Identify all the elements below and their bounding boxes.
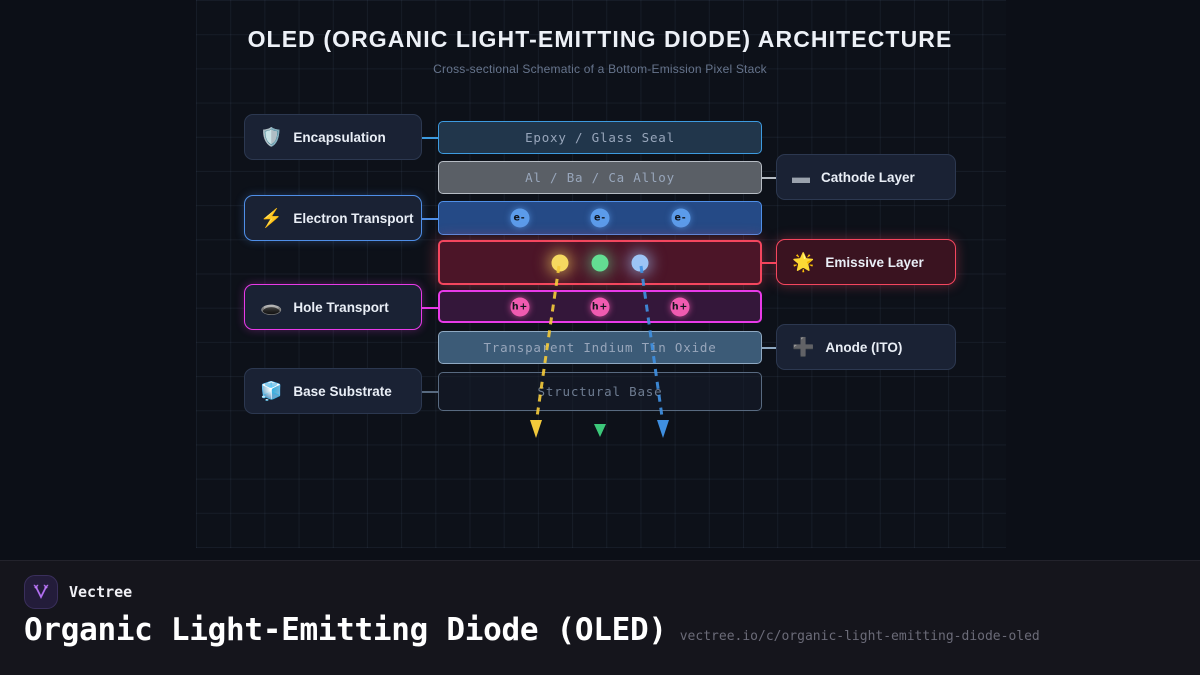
vectree-logo-icon (24, 575, 58, 609)
hole-badge: h+ (511, 297, 530, 316)
sidebar-item-label: Emissive Layer (825, 255, 923, 270)
layer-encapsulation[interactable]: Epoxy / Glass Seal (438, 121, 762, 154)
sidebar-item-base-substrate[interactable]: 🧊 Base Substrate (244, 368, 422, 414)
layer-cathode-text: Al / Ba / Ca Alloy (525, 170, 675, 185)
electron-badge: e- (591, 209, 610, 228)
sidebar-item-label: Hole Transport (293, 300, 388, 315)
electron-badge: e- (671, 209, 690, 228)
layer-hole-transport[interactable]: h+ h+ h+ (438, 290, 762, 323)
lightning-icon: ⚡ (260, 209, 282, 227)
hole-carriers: h+ h+ h+ (440, 292, 760, 321)
emissive-dots (440, 242, 760, 283)
layer-substrate-text: Structural Base (538, 384, 663, 399)
sidebar-item-label: Cathode Layer (821, 170, 915, 185)
layer-encapsulation-text: Epoxy / Glass Seal (525, 130, 675, 145)
layer-ito[interactable]: Transparent Indium Tin Oxide (438, 331, 762, 364)
connector-encapsulation (422, 137, 438, 139)
brand-name: Vectree (69, 583, 132, 601)
electron-carriers: e- e- e- (439, 202, 761, 234)
sidebar-item-emissive[interactable]: 🌟 Emissive Layer (776, 239, 956, 285)
connector-base-substrate (422, 391, 438, 393)
connector-cathode (762, 177, 776, 179)
blue-subpixel-emitter (632, 254, 649, 271)
sidebar-item-label: Base Substrate (293, 384, 391, 399)
layer-ito-text: Transparent Indium Tin Oxide (483, 340, 716, 355)
layer-emissive[interactable] (438, 240, 762, 285)
layer-electron-transport[interactable]: e- e- e- (438, 201, 762, 235)
electron-badge: e- (510, 209, 529, 228)
connector-emissive (762, 262, 776, 264)
layer-substrate[interactable]: Structural Base (438, 372, 762, 411)
sidebar-item-anode[interactable]: ➕ Anode (ITO) (776, 324, 956, 370)
red-subpixel-emitter (552, 254, 569, 271)
page-title: OLED (ORGANIC LIGHT-EMITTING DIODE) ARCH… (0, 26, 1200, 53)
sidebar-item-label: Electron Transport (293, 211, 413, 226)
sidebar-item-label: Encapsulation (293, 130, 385, 145)
connector-electron-transport (422, 218, 438, 220)
sidebar-item-electron-transport[interactable]: ⚡ Electron Transport (244, 195, 422, 241)
hole-badge: h+ (591, 297, 610, 316)
sidebar-item-encapsulation[interactable]: 🛡️ Encapsulation (244, 114, 422, 160)
sidebar-item-hole-transport[interactable]: 🕳️ Hole Transport (244, 284, 422, 330)
plus-icon: ➕ (792, 338, 814, 356)
bar-icon: ▬ (792, 168, 810, 186)
brand[interactable]: Vectree (24, 575, 132, 609)
connector-anode (762, 347, 776, 349)
green-subpixel-emitter (592, 254, 609, 271)
shield-icon: 🛡️ (260, 128, 282, 146)
footer-content: Organic Light-Emitting Diode (OLED) vect… (24, 612, 1184, 648)
diagram-stage: OLED (ORGANIC LIGHT-EMITTING DIODE) ARCH… (0, 0, 1200, 560)
page-subtitle: Cross-sectional Schematic of a Bottom-Em… (0, 62, 1200, 76)
footer-title: Organic Light-Emitting Diode (OLED) (24, 612, 667, 648)
layer-cathode[interactable]: Al / Ba / Ca Alloy (438, 161, 762, 194)
connector-hole-transport (422, 307, 438, 309)
sidebar-item-cathode[interactable]: ▬ Cathode Layer (776, 154, 956, 200)
footer-url[interactable]: vectree.io/c/organic-light-emitting-diod… (680, 629, 1040, 644)
hole-icon: 🕳️ (260, 298, 282, 316)
hole-badge: h+ (671, 297, 690, 316)
cube-icon: 🧊 (260, 382, 282, 400)
star-icon: 🌟 (792, 253, 814, 271)
sidebar-item-label: Anode (ITO) (825, 340, 902, 355)
